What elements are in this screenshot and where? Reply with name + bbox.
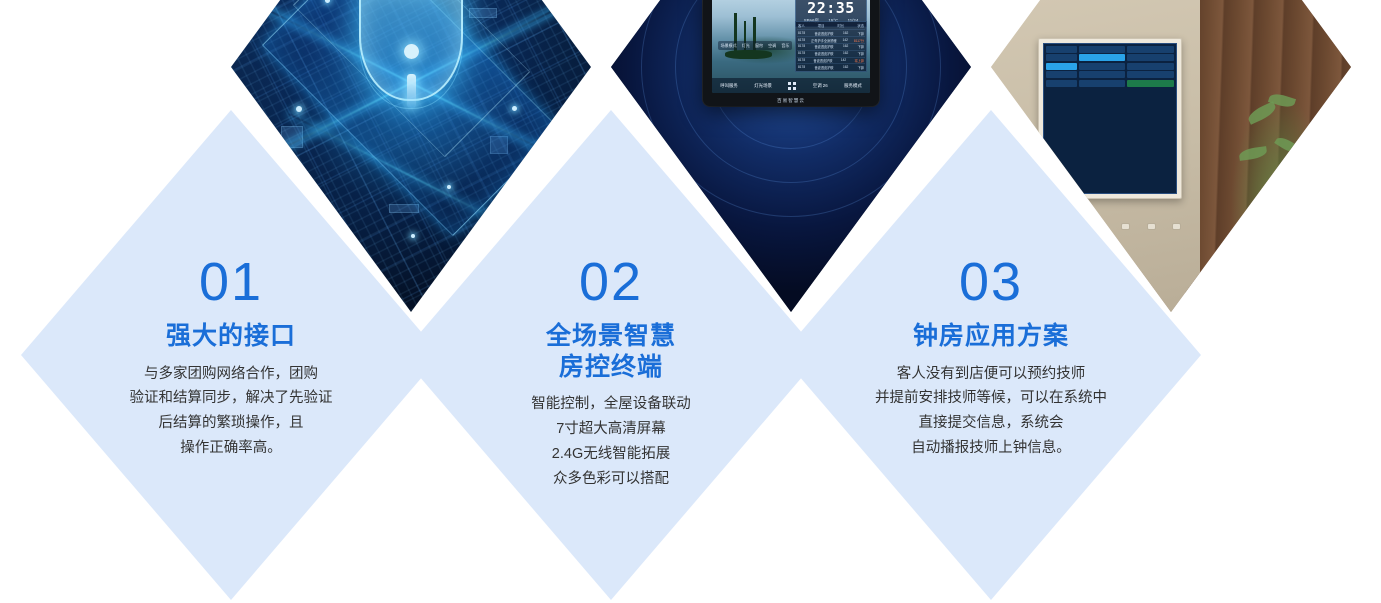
cell-guest: 8178 — [798, 65, 805, 70]
clock-time: 22:35 — [799, 1, 863, 16]
panel-item[interactable] — [1079, 71, 1126, 78]
control-label: 窗帘 — [755, 43, 763, 49]
card-title-01: 强大的接口 — [166, 321, 296, 352]
col-duration: 时长 — [837, 23, 844, 28]
card-title-02: 全场景智慧 房控终端 — [546, 321, 676, 382]
card-number-01: 01 — [199, 255, 263, 309]
cell-status: 将上钟 — [854, 58, 864, 63]
cell-status: 下钟 — [858, 51, 864, 56]
panel-side-item-selected[interactable] — [1046, 63, 1077, 70]
cell-item: 音波透皮护肤 — [814, 65, 833, 70]
cell-duration: 162 — [843, 51, 848, 56]
table-row: 6178 正骨护手全身舒缓 142 8117分 — [797, 36, 865, 43]
card-desc-01: 与多家团购网络合作，团购 验证和结算同步，解决了先验证 后结算的繁琐操作，且 操… — [130, 362, 333, 462]
device-brand-label: 百易智慧云 — [703, 98, 879, 104]
cell-item: 音波透皮护肤 — [814, 31, 833, 36]
cell-guest: 8178 — [798, 31, 805, 36]
cell-status: 8117分 — [854, 38, 864, 43]
card-desc-line: 与多家团购网络合作，团购 — [130, 362, 333, 387]
control-label: 空调 — [768, 43, 776, 49]
card-desc-line: 验证和结算同步，解决了先验证 — [130, 386, 333, 411]
leaf-icon — [1246, 101, 1278, 125]
card-desc-line: 众多色彩可以搭配 — [531, 467, 691, 492]
card-desc-line: 客人没有到店便可以预约技师 — [875, 362, 1107, 387]
panel-column-right — [1127, 46, 1174, 192]
cell-item: 正骨护手全身舒缓 — [811, 38, 837, 43]
card-desc-02: 智能控制，全屋设备联动 7寸超大高清屏幕 2.4G无线智能拓展 众多色彩可以搭配 — [531, 392, 691, 492]
cell-guest: 6178 — [798, 38, 805, 43]
col-item: 项目 — [818, 23, 825, 28]
potted-plant-image — [1229, 87, 1330, 293]
panel-screen — [1043, 43, 1177, 195]
card-desc-line: 后结算的繁琐操作，且 — [130, 411, 333, 436]
panel-content — [1079, 46, 1174, 192]
panel-side-menu — [1046, 46, 1077, 192]
spark-icon — [296, 106, 302, 112]
panel-item-selected[interactable] — [1079, 54, 1126, 61]
panel-item[interactable] — [1127, 71, 1174, 78]
infographic-stage: 22:35 SPA6房 15°C 11/24 客人 项目 时长 状态 — [0, 0, 1381, 603]
panel-side-item[interactable] — [1046, 80, 1077, 87]
cell-item: 音波透皮护肤 — [813, 58, 832, 63]
cell-status: 下钟 — [858, 65, 864, 70]
panel-side-item[interactable] — [1046, 54, 1077, 61]
panel-item[interactable] — [1127, 54, 1174, 61]
bar-label: 空调 26 — [813, 83, 828, 89]
panel-item[interactable] — [1079, 80, 1126, 87]
card-title-line: 全场景智慧 — [546, 321, 676, 352]
panel-button[interactable] — [1147, 223, 1156, 230]
cell-status: 下钟 — [858, 44, 864, 49]
scene-control-strip: 场景模式 灯光 窗帘 空调 音乐 — [718, 41, 792, 50]
panel-item-highlighted[interactable] — [1127, 80, 1174, 87]
card-title-03: 钟房应用方案 — [913, 321, 1069, 352]
leaf-icon — [1238, 146, 1267, 161]
control-label: 场景模式 — [721, 43, 737, 49]
col-guest: 客人 — [798, 23, 805, 28]
panel-button[interactable] — [1096, 223, 1105, 230]
tablet-device: 22:35 SPA6房 15°C 11/24 客人 项目 时长 状态 — [703, 0, 879, 106]
card-desc-03: 客人没有到店便可以预约技师 并提前安排技师等候，可以在系统中 直接提交信息，系统… — [875, 362, 1107, 462]
bar-label: 服务模式 — [844, 83, 862, 89]
island-icon — [725, 50, 772, 59]
cell-duration: 162 — [843, 44, 848, 49]
booking-table: 客人 项目 时长 状态 8178 音波透皮护肤 162 下钟 6178 — [795, 21, 867, 72]
apps-grid-icon — [788, 82, 796, 90]
col-status: 状态 — [857, 23, 864, 28]
cell-duration: 142 — [843, 38, 848, 43]
card-desc-line: 7寸超大高清屏幕 — [531, 417, 691, 442]
panel-item[interactable] — [1079, 63, 1126, 70]
card-desc-line: 2.4G无线智能拓展 — [531, 442, 691, 467]
wall-control-panel — [1038, 38, 1182, 200]
key-stem-icon — [407, 74, 416, 108]
panel-side-item[interactable] — [1046, 71, 1077, 78]
cell-item: 音波透皮护肤 — [814, 44, 833, 49]
cell-item: 音波透皮护肤 — [814, 51, 833, 56]
bar-label: 呼叫服务 — [720, 83, 738, 89]
tablet-bottom-bar: 呼叫服务 灯光场景 空调 26 服务模式 — [712, 78, 870, 93]
card-desc-line: 智能控制，全屋设备联动 — [531, 392, 691, 417]
cell-guest: 8178 — [798, 51, 805, 56]
cell-duration: 142 — [841, 58, 846, 63]
table-row: 8178 音波透皮护肤 162 下钟 — [797, 43, 865, 50]
card-desc-line: 并提前安排技师等候，可以在系统中 — [875, 386, 1107, 411]
panel-item[interactable] — [1127, 46, 1174, 53]
panel-button[interactable] — [1172, 223, 1181, 230]
table-row: 8178 音波透皮护肤 142 将上钟 — [797, 57, 865, 64]
spark-icon — [411, 234, 415, 238]
cell-guest: 8178 — [798, 58, 805, 63]
panel-item[interactable] — [1127, 63, 1174, 70]
card-content-02: 02 全场景智慧 房控终端 智能控制，全屋设备联动 7寸超大高清屏幕 2.4G无… — [401, 255, 821, 492]
panel-side-item[interactable] — [1046, 46, 1077, 53]
card-content-03: 03 钟房应用方案 客人没有到店便可以预约技师 并提前安排技师等候，可以在系统中… — [781, 255, 1201, 461]
cell-guest: 8178 — [798, 44, 805, 49]
panel-item[interactable] — [1079, 46, 1126, 53]
cell-duration: 162 — [843, 65, 848, 70]
card-content-01: 01 强大的接口 与多家团购网络合作，团购 验证和结算同步，解决了先验证 后结算… — [21, 255, 441, 461]
spark-icon — [447, 185, 451, 189]
spark-icon — [512, 106, 517, 111]
tablet-screen: 22:35 SPA6房 15°C 11/24 客人 项目 时长 状态 — [712, 0, 870, 93]
cell-status: 下钟 — [858, 31, 864, 36]
bar-label: 灯光场景 — [754, 83, 772, 89]
table-row: 8178 音波透皮护肤 162 下钟 — [797, 50, 865, 57]
card-desc-line: 自动播报技师上钟信息。 — [875, 436, 1107, 461]
table-row: 8178 音波透皮护肤 162 下钟 — [797, 63, 865, 70]
leaf-icon — [1274, 135, 1300, 156]
card-desc-line: 操作正确率高。 — [130, 436, 333, 461]
card-desc-line: 直接提交信息，系统会 — [875, 411, 1107, 436]
control-label: 音乐 — [781, 43, 789, 49]
chip-block-icon — [389, 204, 419, 213]
panel-column-left — [1079, 46, 1126, 192]
cell-duration: 162 — [843, 31, 848, 36]
panel-button[interactable] — [1121, 223, 1130, 230]
card-title-line: 房控终端 — [546, 352, 676, 383]
card-number-03: 03 — [959, 255, 1023, 309]
card-number-02: 02 — [579, 255, 643, 309]
control-label: 灯光 — [742, 43, 750, 49]
table-row: 8178 音波透皮护肤 162 下钟 — [797, 29, 865, 36]
